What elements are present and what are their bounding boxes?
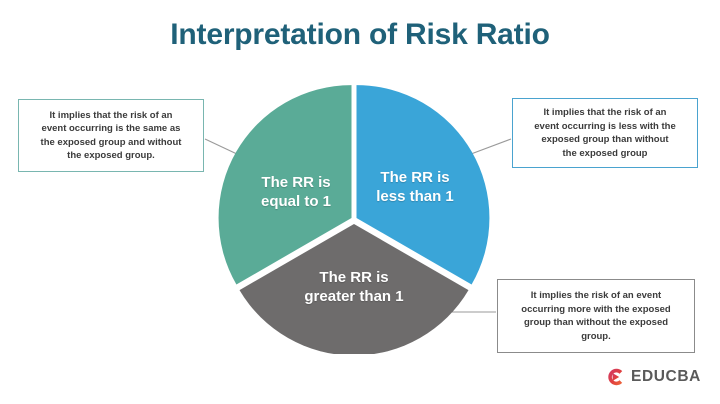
callout-equal-line4: the exposed group. (41, 149, 182, 163)
callout-equal-line3: the exposed group and without (41, 136, 182, 150)
educba-logo-text: EDUCBA (631, 368, 701, 386)
callout-greater-line2: occurring more with the exposed (521, 303, 670, 317)
callout-greater-than-one: It implies the risk of an event occurrin… (497, 279, 695, 353)
callout-less-text: It implies that the risk of an event occ… (534, 106, 675, 160)
callout-equal-line1: It implies that the risk of an (41, 109, 182, 123)
callout-greater-text: It implies the risk of an event occurrin… (521, 289, 670, 343)
callout-greater-line1: It implies the risk of an event (521, 289, 670, 303)
callout-less-line2: event occurring is less with the (534, 120, 675, 134)
callout-less-line4: the exposed group (534, 147, 675, 161)
page-title: Interpretation of Risk Ratio (0, 16, 720, 54)
callout-greater-line4: group. (521, 330, 670, 344)
infographic-canvas: Interpretation of Risk Ratio The RR is e… (0, 0, 720, 404)
callout-equal-line2: event occurring is the same as (41, 122, 182, 136)
callout-greater-line3: group than without the exposed (521, 316, 670, 330)
risk-ratio-pie-chart (218, 82, 490, 354)
educba-logo[interactable]: EDUCBA (604, 366, 701, 388)
pie-svg (218, 82, 490, 354)
callout-less-than-one: It implies that the risk of an event occ… (512, 98, 698, 168)
callout-less-line1: It implies that the risk of an (534, 106, 675, 120)
educba-play-circle-icon (604, 366, 626, 388)
callout-equal-text: It implies that the risk of an event occ… (41, 109, 182, 163)
callout-less-line3: exposed group than without (534, 133, 675, 147)
callout-equal-to-one: It implies that the risk of an event occ… (18, 99, 204, 172)
